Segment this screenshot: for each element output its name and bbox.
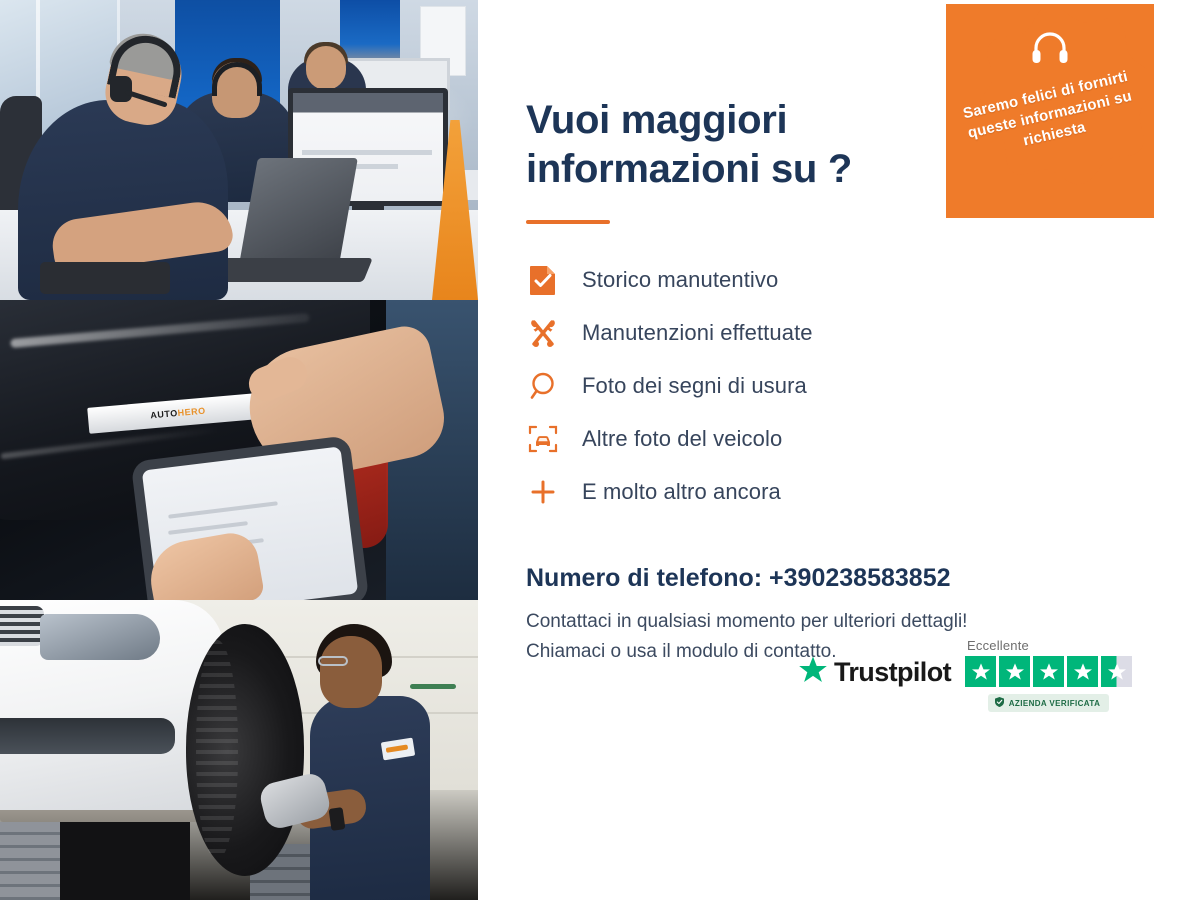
star-filled-icon [965, 656, 996, 687]
page-title: Vuoi maggiori informazioni su ? [526, 96, 946, 194]
contact-description-line-2: Chiamaci o usa il modulo di contatto. [526, 641, 837, 662]
star-filled-icon [1033, 656, 1064, 687]
photo-column: AUTOHERO [0, 0, 478, 900]
trustpilot-star-icon [798, 655, 828, 690]
wall-tool-decor [410, 684, 456, 689]
under-lift-shadow-decor [60, 822, 190, 900]
ruler-brand-label: AUTOHERO [150, 406, 206, 421]
desk-tablet-decor [40, 262, 170, 294]
feature-label: Manutenzioni effettuate [582, 320, 813, 346]
content-panel: Vuoi maggiori informazioni su ? Storico … [478, 0, 1200, 900]
trustpilot-logo: Trustpilot [798, 655, 951, 690]
headset-icon [1030, 30, 1070, 73]
car-air-intake-decor [0, 718, 175, 754]
feature-list: Storico manutentivo Manutenzi [526, 260, 1140, 512]
workshop-wheel-check-photo [0, 600, 478, 900]
feature-label: Storico manutentivo [582, 267, 778, 293]
star-filled-icon [1067, 656, 1098, 687]
screen-row-decor [302, 150, 432, 155]
headline-divider [526, 220, 610, 224]
shield-check-icon [995, 697, 1004, 709]
feature-item-manutenzioni-effettuate: Manutenzioni effettuate [526, 313, 1140, 353]
agent-three-head [306, 46, 346, 90]
feature-item-altre-foto-veicolo: Altre foto del veicolo [526, 419, 1140, 459]
mechanic-head-decor [320, 636, 382, 708]
trustpilot-brand-label: Trustpilot [834, 657, 951, 688]
star-half-icon [1101, 656, 1132, 687]
contact-description-line-1: Contattaci in qualsiasi momento per ulte… [526, 611, 967, 632]
verified-company-badge: AZIENDA VERIFICATA [988, 694, 1110, 712]
laptop-screen-decor [238, 158, 358, 270]
car-headlight-decor [40, 614, 160, 660]
contact-info-poster: AUTOHERO [0, 0, 1200, 900]
trustpilot-rating[interactable]: Trustpilot Eccellente [798, 638, 1132, 712]
magnifier-icon [526, 369, 560, 403]
star-filled-icon [999, 656, 1030, 687]
document-check-icon [526, 263, 560, 297]
agent-one-earcup [110, 76, 132, 102]
phone-number-line: Numero di telefono: +390238583852 [526, 564, 1126, 593]
feature-item-storico-manutentivo: Storico manutentivo [526, 260, 1140, 300]
trustpilot-rating-label: Eccellente [967, 638, 1029, 653]
callout-badge: Saremo felici di fornirti queste informa… [946, 4, 1154, 218]
feature-label: Altre foto del veicolo [582, 426, 782, 452]
mechanic-glasses-decor [318, 656, 348, 666]
mechanic-watch-decor [329, 807, 346, 831]
feature-label: E molto altro ancora [582, 479, 781, 505]
car-grille-decor [0, 606, 44, 646]
call-center-agents-photo [0, 0, 478, 300]
car-scan-icon [526, 422, 560, 456]
vehicle-inspection-photo: AUTOHERO [0, 300, 478, 600]
plus-icon [526, 475, 560, 509]
trustpilot-stars [965, 656, 1132, 687]
feature-item-foto-segni-usura: Foto dei segni di usura [526, 366, 1140, 406]
verified-company-label: AZIENDA VERIFICATA [1009, 699, 1101, 708]
feature-label: Foto dei segni di usura [582, 373, 807, 399]
headline-line-1: Vuoi maggiori [526, 98, 787, 142]
trustpilot-score-block: Eccellente [965, 638, 1132, 712]
tools-cross-icon [526, 316, 560, 350]
tire-tread-decor [196, 640, 238, 860]
feature-item-molto-altro: E molto altro ancora [526, 472, 1140, 512]
headline-line-2: informazioni su ? [526, 147, 852, 191]
